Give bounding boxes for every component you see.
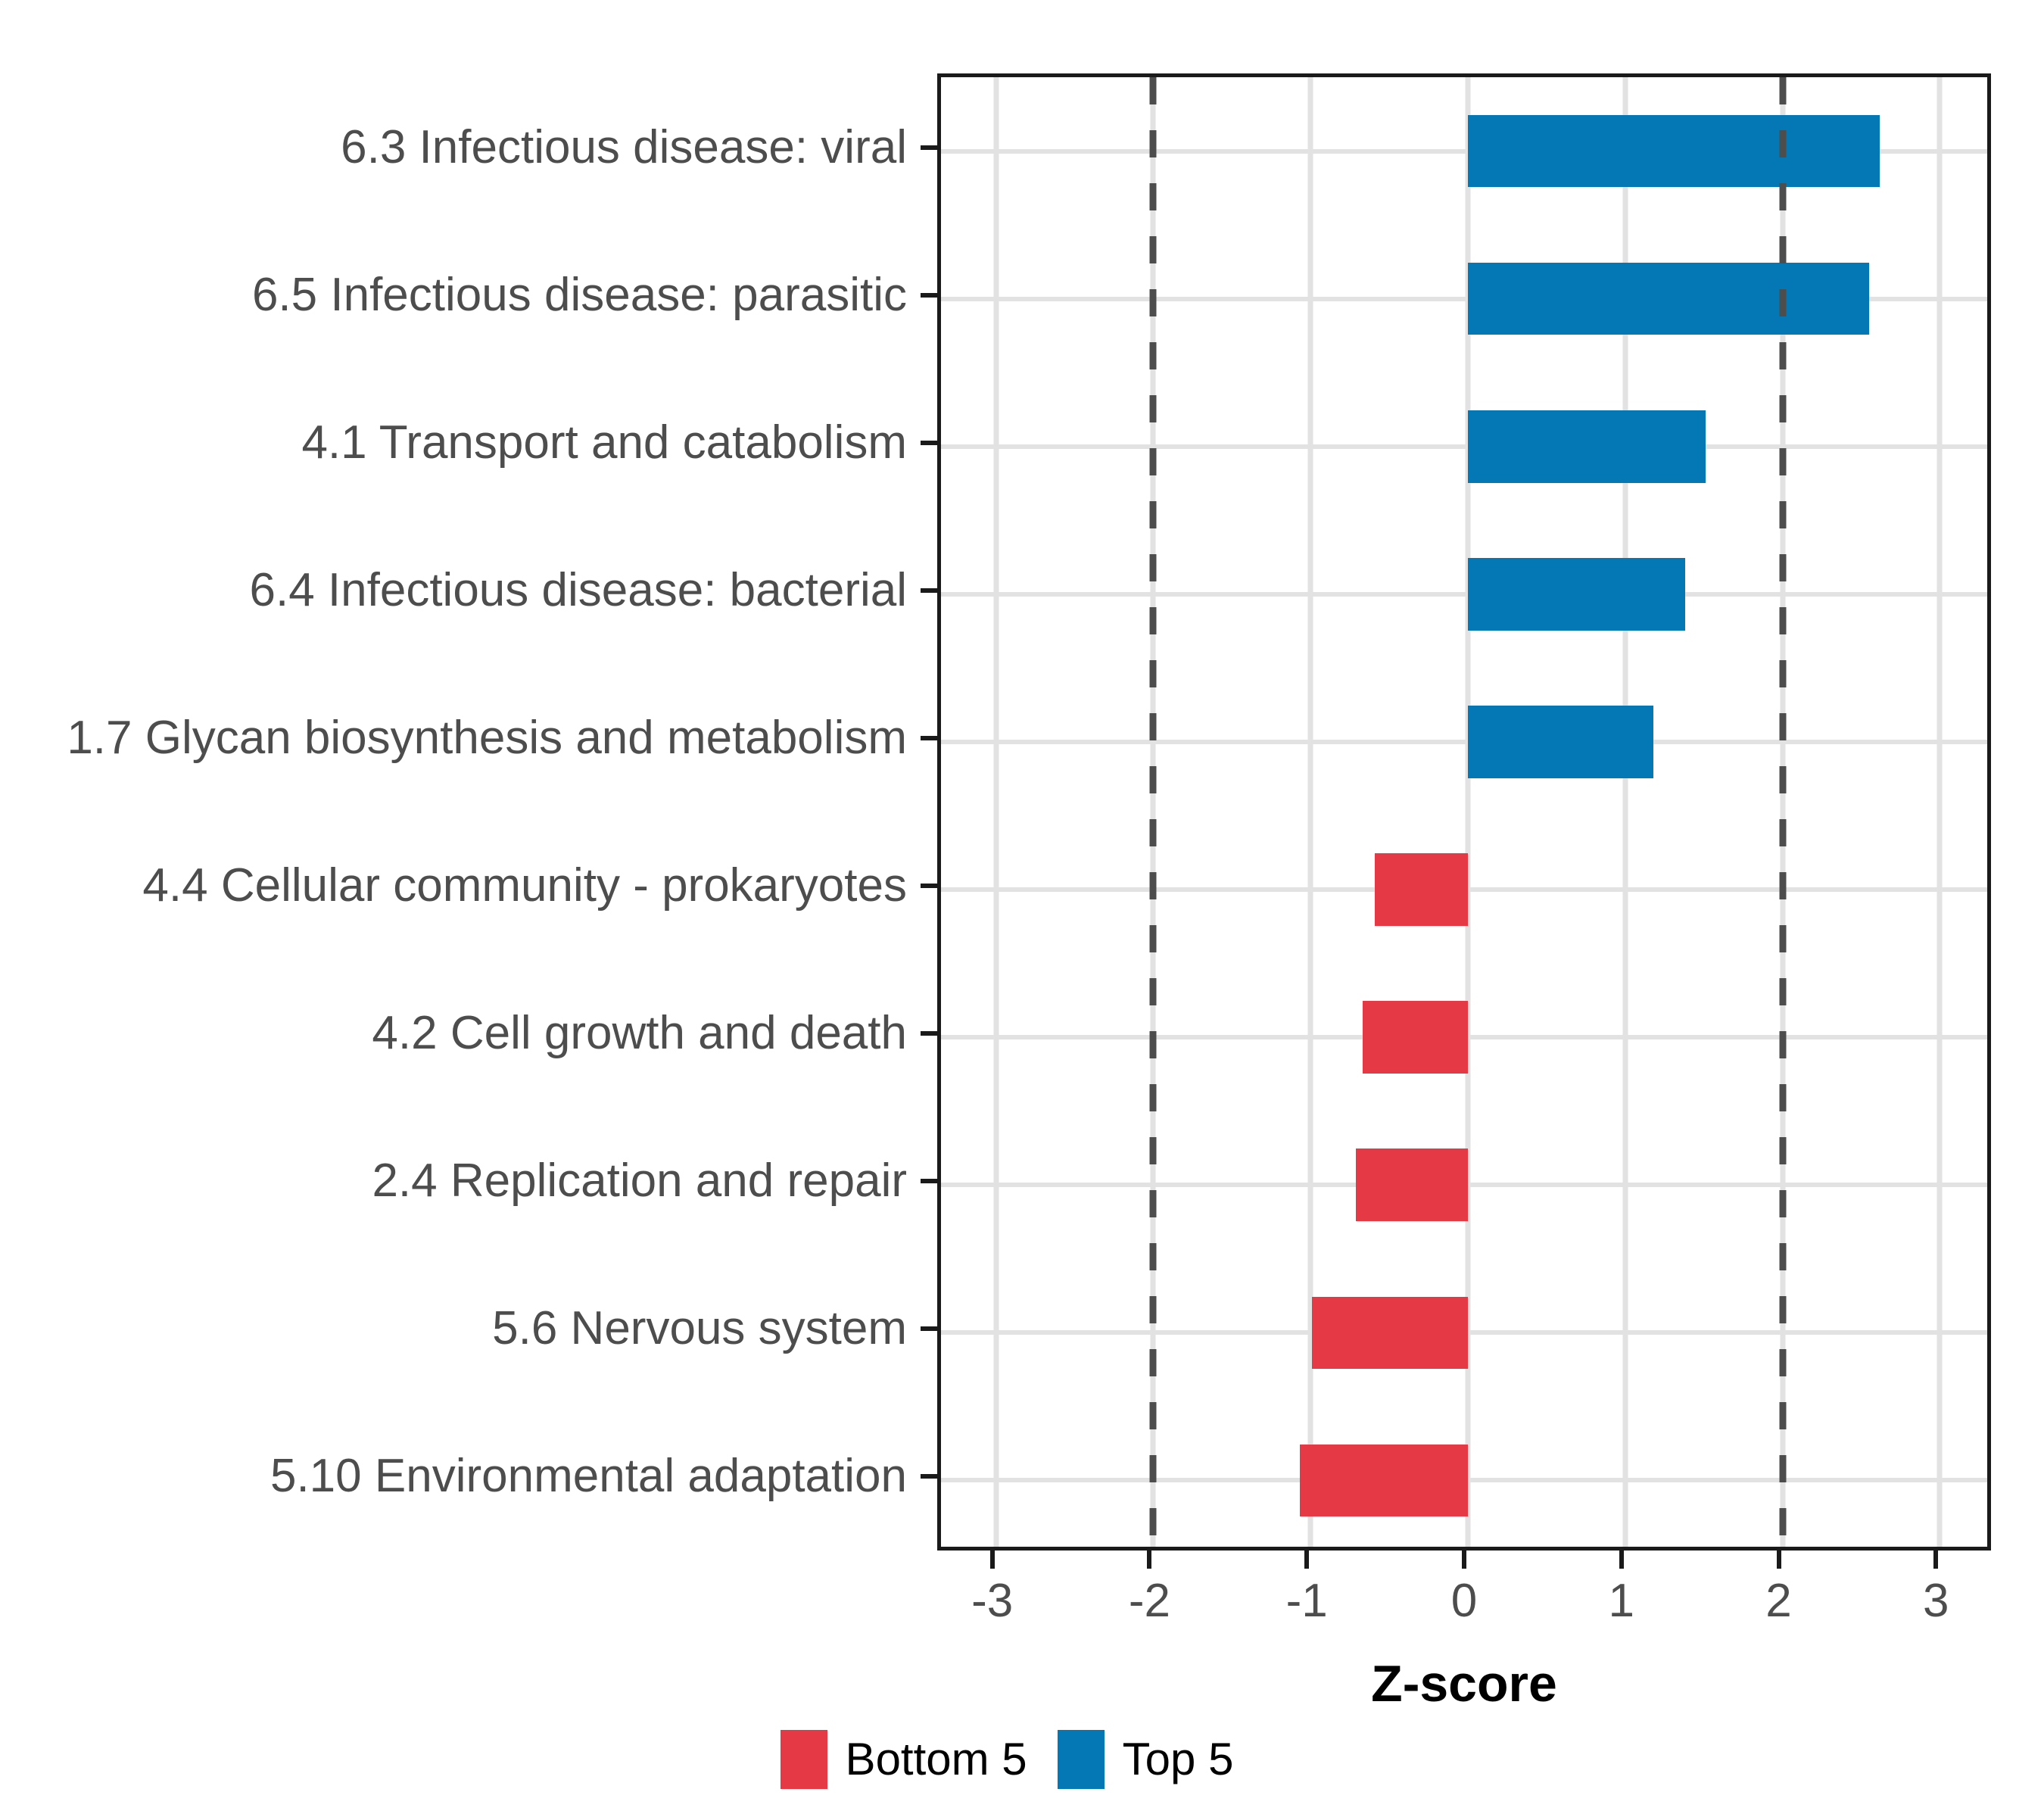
x-axis-tick-label: -1 <box>1286 1578 1328 1625</box>
x-axis-tick-label: 0 <box>1451 1578 1477 1625</box>
x-axis-tick-label: 1 <box>1609 1578 1634 1625</box>
y-axis-category-label: 5.6 Nervous system <box>0 1305 907 1352</box>
y-axis-category-label: 4.1 Transport and catabolism <box>0 419 907 466</box>
y-axis-category-label: 1.7 Glycan biosynthesis and metabolism <box>0 715 907 762</box>
horizontal-gridline <box>941 592 1987 597</box>
bar[interactable] <box>1312 1297 1468 1370</box>
legend-color-swatch <box>1058 1730 1105 1789</box>
y-axis-tick <box>921 884 937 888</box>
bar[interactable] <box>1468 706 1653 778</box>
y-axis-category-label: 5.10 Environmental adaptation <box>0 1453 907 1500</box>
x-axis-tick-0 <box>1462 1551 1466 1569</box>
bar[interactable] <box>1300 1445 1468 1517</box>
x-axis-tick-label: -3 <box>971 1578 1013 1625</box>
x-axis-title-text: Z-score <box>1371 1655 1557 1713</box>
y-axis-tick <box>921 588 937 593</box>
x-axis-tick-1 <box>1619 1551 1624 1569</box>
x-axis-tick--3 <box>990 1551 995 1569</box>
y-axis-category-label: 6.5 Infectious disease: parasitic <box>0 272 907 319</box>
reference-line--2 <box>1150 77 1157 1547</box>
x-axis-tick-label: 3 <box>1923 1578 1949 1625</box>
x-axis-title: Z-score <box>937 1654 1991 1713</box>
plot-panel <box>937 73 1991 1551</box>
x-axis-tick-2 <box>1777 1551 1781 1569</box>
bar[interactable] <box>1468 558 1685 631</box>
bar[interactable] <box>1468 115 1880 188</box>
bar[interactable] <box>1468 410 1706 483</box>
legend-item[interactable]: Top 5 <box>1058 1730 1264 1789</box>
legend-label: Bottom 5 <box>846 1737 1027 1782</box>
y-axis-category-label: 6.3 Infectious disease: viral <box>0 124 907 171</box>
y-axis-tick <box>921 441 937 445</box>
y-axis-tick <box>921 1179 937 1183</box>
plot-area <box>941 77 1987 1547</box>
y-axis-tick <box>921 293 937 298</box>
bar[interactable] <box>1468 263 1869 335</box>
y-axis-category-label: 6.4 Infectious disease: bacterial <box>0 567 907 614</box>
y-axis-category-label: 2.4 Replication and repair <box>0 1158 907 1205</box>
bar[interactable] <box>1363 1001 1468 1074</box>
x-axis-tick--2 <box>1147 1551 1151 1569</box>
y-axis-category-label: 4.2 Cell growth and death <box>0 1010 907 1057</box>
x-axis-tick-label: 2 <box>1765 1578 1791 1625</box>
y-axis-tick <box>921 1474 937 1479</box>
x-axis-tick-label: -2 <box>1129 1578 1170 1625</box>
horizontal-gridline <box>941 444 1987 449</box>
bar[interactable] <box>1375 853 1468 926</box>
y-axis-tick <box>921 1031 937 1036</box>
y-axis-tick <box>921 1326 937 1331</box>
x-axis-tick-3 <box>1933 1551 1938 1569</box>
legend-item[interactable]: Bottom 5 <box>781 1730 1058 1789</box>
horizontal-gridline <box>941 740 1987 744</box>
legend-color-swatch <box>781 1730 827 1789</box>
reference-line-2 <box>1779 77 1786 1547</box>
chart-figure: 6.3 Infectious disease: viral6.5 Infecti… <box>0 0 2044 1817</box>
x-axis-tick--1 <box>1304 1551 1309 1569</box>
bar[interactable] <box>1356 1148 1468 1221</box>
y-axis-category-label: 4.4 Cellular community - prokaryotes <box>0 862 907 909</box>
y-axis-tick <box>921 736 937 740</box>
legend-label: Top 5 <box>1123 1737 1234 1782</box>
chart-legend: Bottom 5Top 5 <box>0 1730 2044 1789</box>
y-axis-tick <box>921 145 937 150</box>
